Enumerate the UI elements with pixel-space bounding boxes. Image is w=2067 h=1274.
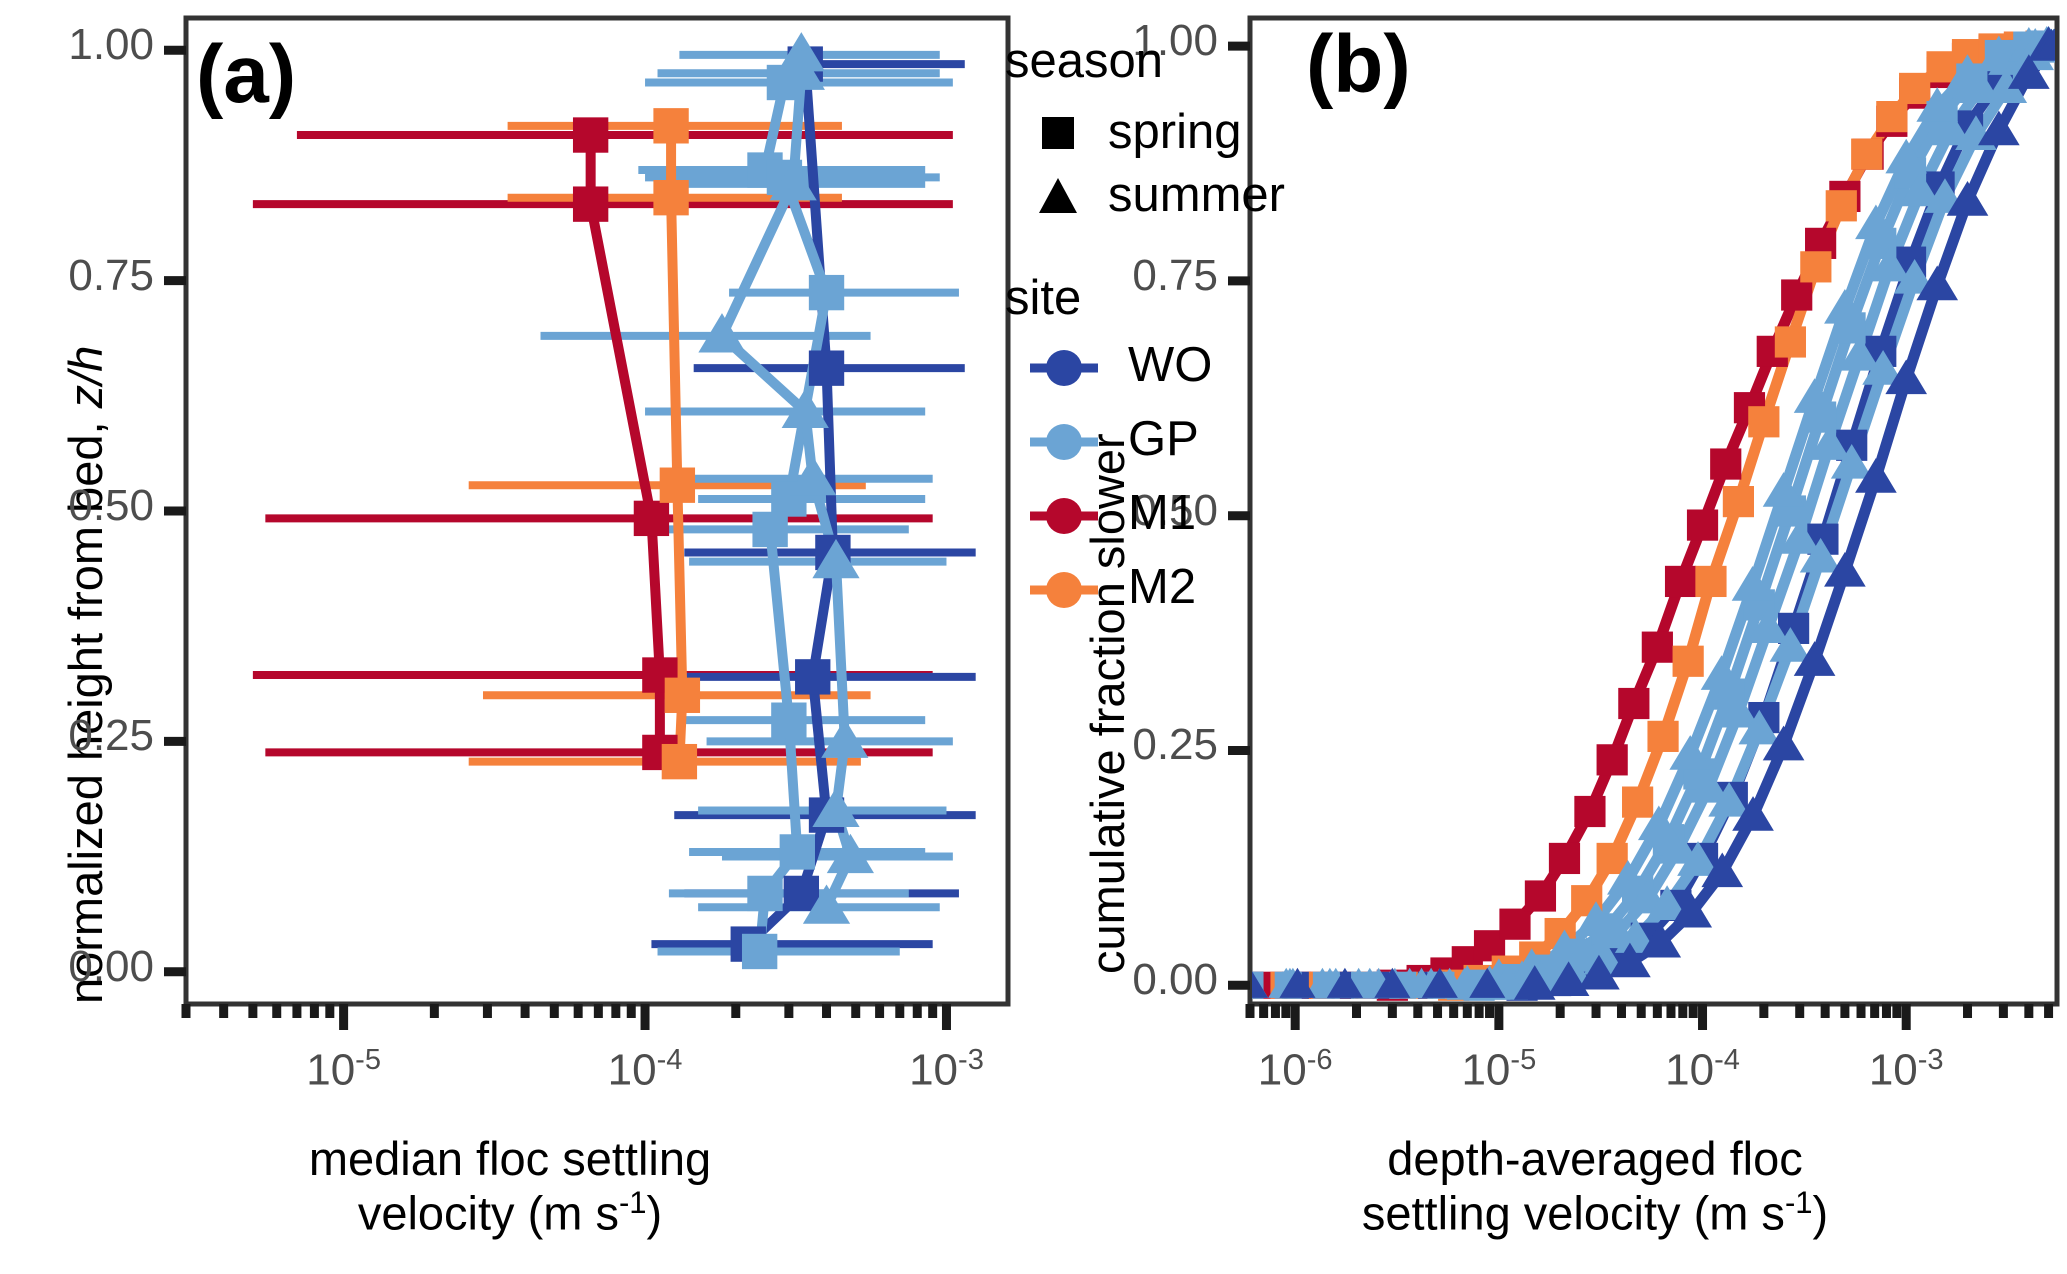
- legend-site-item-m1: M1: [1128, 485, 1196, 541]
- legend-site-key-gp-icon: [1024, 414, 1104, 470]
- legend-site-key-m1-icon: [1024, 488, 1104, 544]
- panel-a-x-tick-label: 10-3: [846, 1044, 1046, 1096]
- panel-a-y-axis-title: normalized height from bed, z/h: [58, 346, 113, 1004]
- legend-site-key-wo-icon: [1024, 340, 1104, 396]
- panel-b-y-tick-label: 0.00: [1020, 955, 1218, 1005]
- legend-site-item-m2: M2: [1128, 559, 1196, 615]
- panel-a-x-tick-label: 10-5: [244, 1044, 444, 1096]
- panel-a: normalized height from bed, z/h 0.00 0.2…: [0, 0, 1020, 1274]
- panel-a-y-tick-label: 0.75: [0, 251, 154, 301]
- panel-a-y-tick-label: 0.00: [0, 942, 154, 992]
- legend-season-item-summer: summer: [1108, 167, 1285, 223]
- panel-b-x-axis-title: depth-averaged flocsettling velocity (m …: [1180, 1133, 2010, 1240]
- panel-b-x-tick-label: 10-3: [1806, 1044, 2006, 1096]
- legend-season-item-spring: spring: [1108, 104, 1241, 160]
- panel-b-x-tick-label: 10-6: [1195, 1044, 1395, 1096]
- figure-root: normalized height from bed, z/h 0.00 0.2…: [0, 0, 2067, 1274]
- legend-site-item-gp: GP: [1128, 411, 1199, 467]
- legend-summer-triangle-icon: [1030, 168, 1090, 224]
- panel-a-y-tick-label: 0.25: [0, 711, 154, 761]
- legend-site-item-wo: WO: [1128, 337, 1212, 393]
- panel-a-x-axis-title: median floc settlingvelocity (m s-1): [130, 1133, 890, 1240]
- legend-site-heading: site: [1005, 270, 1081, 326]
- panel-b-x-tick-label: 10-5: [1399, 1044, 1599, 1096]
- panel-b: cumulative fraction slower 0.00 0.25 0.5…: [1020, 0, 2067, 1274]
- panel-b-y-tick-label: 0.25: [1020, 720, 1218, 770]
- panel-b-tag: (b): [1306, 18, 1411, 112]
- panel-a-x-tick-label: 10-4: [545, 1044, 745, 1096]
- panel-a-y-tick-label: 0.50: [0, 481, 154, 531]
- panel-a-y-tick-label: 1.00: [0, 20, 154, 70]
- legend-site-key-m2-icon: [1024, 562, 1104, 618]
- legend-spring-square-icon: [1030, 105, 1090, 161]
- legend-season-heading: season: [1005, 33, 1163, 89]
- panel-a-tag: (a): [196, 28, 296, 122]
- panel-b-x-tick-label: 10-4: [1603, 1044, 1803, 1096]
